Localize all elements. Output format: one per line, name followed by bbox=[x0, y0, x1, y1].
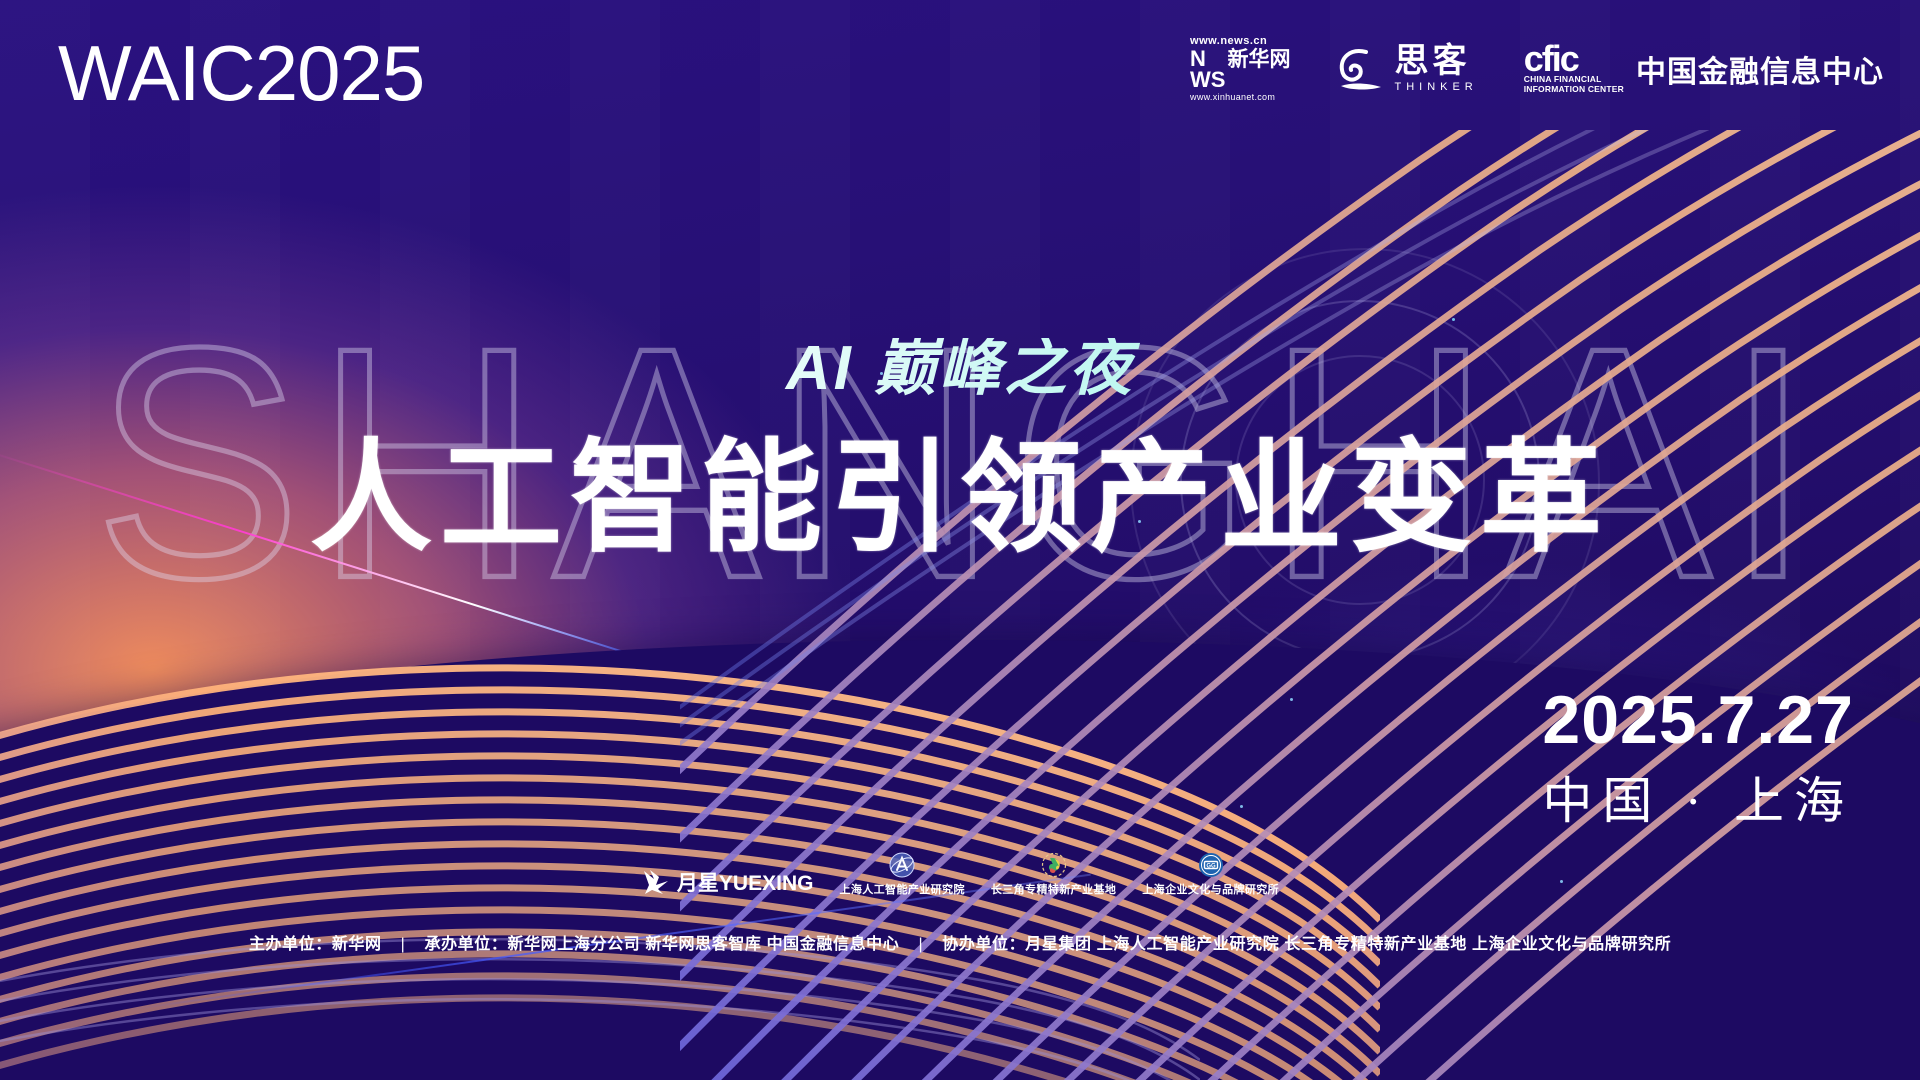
waic-logo-year: 2025 bbox=[255, 29, 425, 117]
sponsor-logo-brand-institute[interactable]: GG 上海企业文化与品牌研究所 bbox=[1142, 852, 1279, 897]
sparkle-dot bbox=[1290, 698, 1293, 701]
footer-host: 主办单位：新华网 bbox=[249, 936, 382, 953]
sponsor-logo-strip: 月星YUEXING 上海人工智能产业研究院 bbox=[0, 852, 1920, 897]
swirl-icon bbox=[1336, 46, 1386, 92]
sponsor-logo-yuexing[interactable]: 月星YUEXING bbox=[641, 867, 814, 897]
cfic-mark: cfic bbox=[1524, 43, 1624, 75]
sparkle-dot bbox=[1452, 318, 1455, 321]
thinker-en-name: THINKER bbox=[1394, 82, 1477, 93]
event-location: 中国 · 上海 bbox=[1542, 776, 1854, 826]
sparkle-dot bbox=[1240, 805, 1243, 808]
footer-organizer: 承办单位：新华网上海分公司 新华网思客智库 中国金融信息中心 bbox=[424, 936, 899, 953]
sponsor-name: 长三角专精特新产业基地 bbox=[991, 881, 1116, 897]
sponsor-logo-ai-institute[interactable]: 上海人工智能产业研究院 bbox=[839, 852, 964, 897]
brand-institute-icon: GG bbox=[1198, 852, 1224, 878]
footer-credits: 主办单位：新华网 | 承办单位：新华网上海分公司 新华网思客智库 中国金融信息中… bbox=[0, 930, 1920, 954]
thinker-cn-name: 思客 bbox=[1394, 44, 1477, 78]
sponsor-logo-yangtze-base[interactable]: 长三角专精特新产业基地 bbox=[991, 852, 1116, 897]
yangtze-base-icon bbox=[1041, 852, 1067, 878]
thinker-logo[interactable]: 思客 THINKER bbox=[1336, 44, 1477, 93]
ai-institute-icon bbox=[889, 852, 915, 878]
cfic-sub-line2: INFORMATION CENTER bbox=[1524, 85, 1624, 95]
sponsor-name: 上海企业文化与品牌研究所 bbox=[1142, 881, 1279, 897]
xinhuanet-logo[interactable]: www.news.cn N WS 新华网 www.xinhuanet.com bbox=[1190, 36, 1290, 102]
event-headline: 人工智能引领产业变革 bbox=[0, 430, 1920, 567]
xinhua-cn-name: 新华网 bbox=[1227, 49, 1290, 71]
waic-logo: WAIC2025 bbox=[58, 34, 424, 112]
xinhua-url-bottom: www.xinhuanet.com bbox=[1190, 93, 1275, 102]
event-date-block: 2025.7.27 中国 · 上海 bbox=[1542, 686, 1854, 826]
xinhua-letter-ws: WS bbox=[1190, 70, 1225, 91]
sponsor-name: 上海人工智能产业研究院 bbox=[839, 881, 964, 897]
event-poster: SHANGHAI bbox=[0, 0, 1920, 1080]
footer-coorganizer: 协办单位：月星集团 上海人工智能产业研究院 长三角专精特新产业基地 上海企业文化… bbox=[942, 936, 1671, 953]
footer-separator-2: | bbox=[904, 936, 937, 953]
sponsor-name: 月星YUEXING bbox=[677, 867, 814, 897]
cfic-logo[interactable]: cfic CHINA FINANCIAL INFORMATION CENTER … bbox=[1524, 43, 1884, 95]
footer-separator-1: | bbox=[387, 936, 420, 953]
yuexing-star-icon bbox=[641, 868, 671, 896]
svg-text:GG: GG bbox=[1206, 863, 1216, 869]
cfic-cn-name: 中国金融信息中心 bbox=[1636, 47, 1884, 91]
event-date: 2025.7.27 bbox=[1542, 686, 1854, 754]
waic-logo-main: WAIC bbox=[58, 29, 255, 117]
event-subtitle: AI 巅峰之夜 bbox=[0, 338, 1920, 400]
header-sponsor-logos: www.news.cn N WS 新华网 www.xinhuanet.com 思… bbox=[1190, 36, 1884, 102]
